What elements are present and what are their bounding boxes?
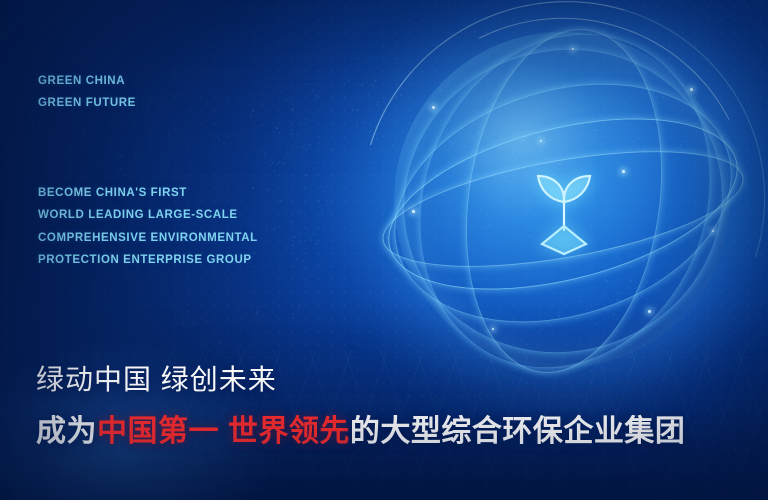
globe-graphic <box>372 10 752 390</box>
particle <box>540 140 542 142</box>
english-tagline-top: GREEN CHINA GREEN FUTURE <box>38 70 136 115</box>
hero-banner: GREEN CHINA GREEN FUTURE BECOME CHINA'S … <box>0 0 768 500</box>
headline-secondary: 成为中国第一 世界领先的大型综合环保企业集团 <box>36 406 685 450</box>
headline-primary: 绿动中国 绿创未来 <box>36 358 685 398</box>
english-tagline-line: GREEN FUTURE <box>38 92 136 114</box>
english-mission-line: COMPREHENSIVE ENVIRONMENTAL <box>38 227 258 249</box>
particle <box>432 106 435 109</box>
particle <box>492 328 494 330</box>
sprout-emblem-icon <box>522 158 606 270</box>
particle <box>412 210 415 213</box>
particle <box>648 310 651 313</box>
english-mission-line: PROTECTION ENTERPRISE GROUP <box>38 249 258 271</box>
english-mission-line: WORLD LEADING LARGE-SCALE <box>38 204 258 226</box>
particle <box>572 48 574 50</box>
headline-suffix: 的大型综合环保企业集团 <box>350 415 686 448</box>
headline-highlight: 中国第一 世界领先 <box>97 415 350 448</box>
particle <box>712 230 714 232</box>
english-mission-line: BECOME CHINA'S FIRST <box>38 182 258 204</box>
english-tagline-line: GREEN CHINA <box>38 70 136 92</box>
english-mission-block: BECOME CHINA'S FIRST WORLD LEADING LARGE… <box>38 182 258 272</box>
particle <box>622 170 625 173</box>
headline-prefix: 成为 <box>36 415 97 448</box>
chinese-headline-block: 绿动中国 绿创未来 成为中国第一 世界领先的大型综合环保企业集团 <box>36 358 685 450</box>
particle <box>690 88 693 91</box>
